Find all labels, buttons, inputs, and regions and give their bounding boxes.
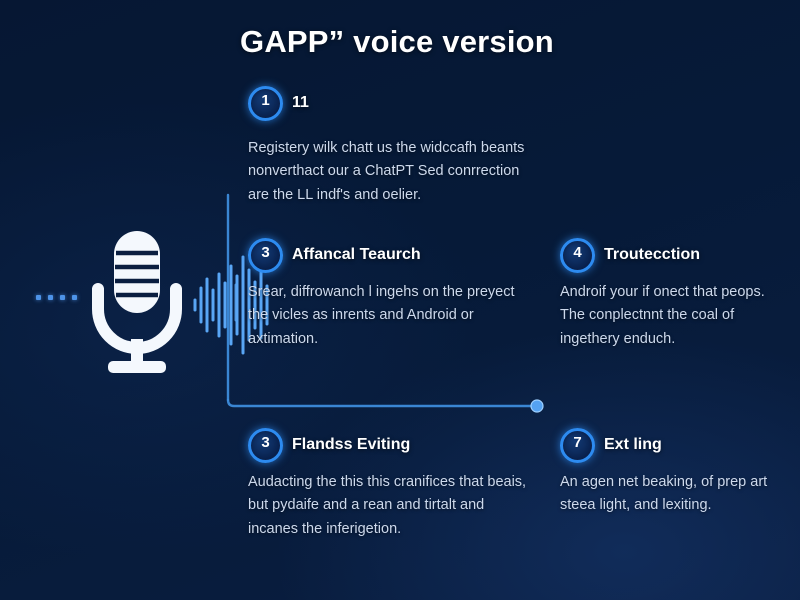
microphone-icon [82,227,192,382]
step-header: 7 Ext ling [560,430,790,460]
step-item-4[interactable]: 4 Troutecction Androif your if onect tha… [560,240,792,351]
step-item-3b[interactable]: 3 Flandss Eviting Audacting the this thi… [248,430,528,541]
step-number-badge: 1 [248,86,283,121]
step-number-badge: 3 [248,238,283,273]
signal-dots-icon [36,295,77,300]
step-title: Flandss Eviting [292,436,410,454]
step-title: Affancal Teaurch [292,246,421,264]
step-description: An agen net beaking, of prep art steea l… [560,471,790,518]
step-description: Srear, diffrowanch l ingehs on the preye… [248,281,526,351]
step-description: Androif your if onect that peops. The co… [560,281,792,351]
infographic-canvas: GAPP” voice version [0,0,800,600]
step-item-3a[interactable]: 3 Affancal Teaurch Srear, diffrowanch l … [248,240,526,351]
page-title: GAPP” voice version [240,24,660,60]
step-description: Registery wilk chatt us the widccafh bea… [248,137,528,207]
step-number-badge: 3 [248,428,283,463]
step-number-badge: 4 [560,238,595,273]
step-header: 1 11 [248,88,528,118]
step-title: 11 [292,94,309,112]
step-title: Troutecction [604,246,700,264]
step-title: Ext ling [604,436,662,454]
step-header: 3 Flandss Eviting [248,430,528,460]
step-number-badge: 7 [560,428,595,463]
step-header: 3 Affancal Teaurch [248,240,526,270]
step-item-7[interactable]: 7 Ext ling An agen net beaking, of prep … [560,430,790,518]
voice-illustration [20,225,260,385]
step-description: Audacting the this this cranifices that … [248,471,528,541]
step-item-1[interactable]: 1 11 Registery wilk chatt us the widccaf… [248,88,528,207]
step-header: 4 Troutecction [560,240,792,270]
